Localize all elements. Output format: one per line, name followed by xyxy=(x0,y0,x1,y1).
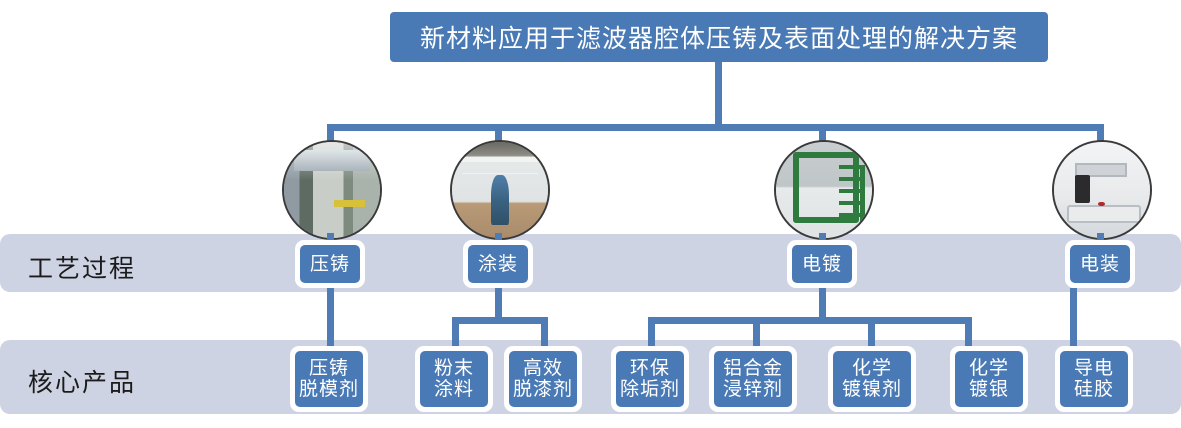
connector-coating-to-paint-stripper xyxy=(541,317,548,346)
powder-coating-booth-image xyxy=(452,142,548,238)
row-label-process: 工艺过程 xyxy=(28,249,136,285)
product-node-electroless-nickel[interactable]: 化学 镀镍剂 xyxy=(828,346,916,412)
product-node-descaler-line2: 除垢剂 xyxy=(620,379,680,400)
product-node-descaler[interactable]: 环保 除垢剂 xyxy=(611,346,689,412)
dispensing-robot-image xyxy=(1054,142,1150,238)
connector-coating-bus xyxy=(452,317,548,324)
product-node-descaler-line1: 环保 xyxy=(630,358,670,379)
die-casting-machine-image xyxy=(284,142,380,238)
connector-plating-stem xyxy=(819,288,826,320)
product-node-paint-stripper-line1: 高效 xyxy=(523,358,563,379)
product-node-release-agent-line2: 脱模剂 xyxy=(299,379,359,400)
product-node-release-agent-line1: 压铸 xyxy=(309,358,349,379)
product-node-zincate-line2: 浸锌剂 xyxy=(723,379,783,400)
product-node-release-agent-fill: 压铸 脱模剂 xyxy=(295,351,363,407)
process-node-coating-label: 涂装 xyxy=(478,254,518,275)
connector-plating-to-electroless-nickel xyxy=(868,317,875,346)
product-node-zincate-line1: 铝合金 xyxy=(723,358,783,379)
product-node-electroless-silver-line2: 镀银 xyxy=(969,379,1009,400)
process-node-assembly[interactable]: 电装 xyxy=(1065,240,1135,288)
product-node-conductive-silicone-line2: 硅胶 xyxy=(1074,379,1114,400)
product-node-powder-paint[interactable]: 粉末 涂料 xyxy=(415,346,493,412)
robot-base-shape xyxy=(1067,205,1140,222)
product-node-paint-stripper-fill: 高效 脱漆剂 xyxy=(509,351,577,407)
process-node-plating-label: 电镀 xyxy=(802,254,842,275)
product-node-electroless-silver-line1: 化学 xyxy=(969,358,1009,379)
process-node-assembly-fill: 电装 xyxy=(1070,245,1130,283)
product-node-zincate-fill: 铝合金 浸锌剂 xyxy=(714,351,792,407)
product-node-paint-stripper[interactable]: 高效 脱漆剂 xyxy=(504,346,582,412)
product-node-powder-paint-line1: 粉末 xyxy=(434,358,474,379)
product-node-release-agent[interactable]: 压铸 脱模剂 xyxy=(290,346,368,412)
process-node-diecast-fill: 压铸 xyxy=(300,245,360,283)
process-node-coating[interactable]: 涂装 xyxy=(463,240,533,288)
process-product-diagram: 工艺过程 核心产品 新材料应用于滤波器腔体压铸及表面处理的解决方案 压铸 涂装 xyxy=(0,0,1181,428)
process-node-coating-fill: 涂装 xyxy=(468,245,528,283)
product-node-descaler-fill: 环保 除垢剂 xyxy=(616,351,684,407)
electroplating-line-image xyxy=(776,142,872,238)
process-row-band xyxy=(0,234,1181,292)
powder-coating-booth-photo xyxy=(450,140,550,240)
product-node-electroless-nickel-line2: 镀镍剂 xyxy=(842,379,902,400)
product-node-electroless-silver[interactable]: 化学 镀银 xyxy=(950,346,1028,412)
product-node-zincate[interactable]: 铝合金 浸锌剂 xyxy=(709,346,797,412)
product-node-electroless-nickel-line1: 化学 xyxy=(852,358,892,379)
connector-circles-bus xyxy=(330,124,1104,131)
connector-coating-stem xyxy=(495,288,502,320)
process-node-plating-fill: 电镀 xyxy=(792,245,852,283)
row-label-product: 核心产品 xyxy=(28,363,136,399)
product-node-conductive-silicone-line1: 导电 xyxy=(1074,358,1114,379)
connector-plating-bus xyxy=(648,317,972,324)
product-node-paint-stripper-line2: 脱漆剂 xyxy=(513,379,573,400)
product-node-powder-paint-fill: 粉末 涂料 xyxy=(420,351,488,407)
connector-assembly-to-conductive-silicone xyxy=(1070,288,1077,346)
product-node-electroless-nickel-fill: 化学 镀镍剂 xyxy=(833,351,911,407)
product-node-conductive-silicone[interactable]: 导电 硅胶 xyxy=(1055,346,1133,412)
connector-diecast-to-release-agent xyxy=(327,288,334,346)
process-node-diecast-label: 压铸 xyxy=(310,254,350,275)
process-node-assembly-label: 电装 xyxy=(1080,254,1120,275)
connector-title-stem xyxy=(715,62,722,131)
product-node-conductive-silicone-fill: 导电 硅胶 xyxy=(1060,351,1128,407)
electroplating-line-photo xyxy=(774,140,874,240)
connector-coating-to-powder-paint xyxy=(452,317,459,346)
product-node-electroless-silver-fill: 化学 镀银 xyxy=(955,351,1023,407)
product-node-powder-paint-line2: 涂料 xyxy=(434,379,474,400)
die-casting-machine-photo xyxy=(282,140,382,240)
process-node-diecast[interactable]: 压铸 xyxy=(295,240,365,288)
connector-plating-to-descaler xyxy=(648,317,655,346)
dispensing-robot-photo xyxy=(1052,140,1152,240)
robot-indicator-dot xyxy=(1098,202,1105,207)
connector-plating-to-electroless-silver xyxy=(965,317,972,346)
process-node-plating[interactable]: 电镀 xyxy=(787,240,857,288)
diagram-title-text: 新材料应用于滤波器腔体压铸及表面处理的解决方案 xyxy=(420,19,1018,55)
diagram-title-box: 新材料应用于滤波器腔体压铸及表面处理的解决方案 xyxy=(390,12,1048,62)
connector-plating-to-zincate xyxy=(753,317,760,346)
